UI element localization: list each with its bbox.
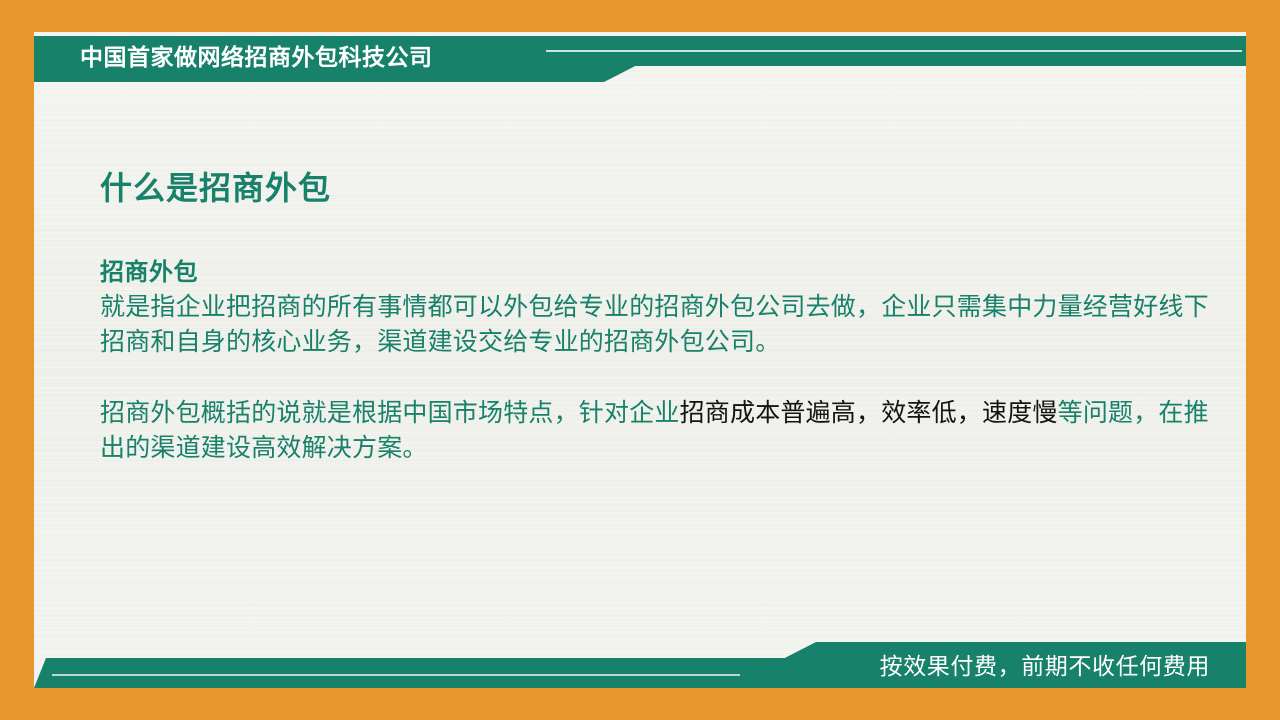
page-title: 什么是招商外包 <box>100 170 1230 207</box>
slide-root: 中国首家做网络招商外包科技公司 什么是招商外包 招商外包 就是指企业把招商的所有… <box>0 0 1280 720</box>
summary-text-highlight: 招商成本普遍高，效率低，速度慢 <box>680 399 1058 427</box>
summary-paragraph: 招商外包概括的说就是根据中国市场特点，针对企业招商成本普遍高，效率低，速度慢等问… <box>100 396 1220 467</box>
summary-text-lead: 招商外包概括的说就是根据中国市场特点，针对企业 <box>100 399 680 427</box>
definition-paragraph: 就是指企业把招商的所有事情都可以外包给专业的招商外包公司去做，企业只需集中力量经… <box>100 290 1220 361</box>
section-subheading: 招商外包 <box>100 259 1230 288</box>
content-area: 什么是招商外包 招商外包 就是指企业把招商的所有事情都可以外包给专业的招商外包公… <box>100 170 1230 467</box>
